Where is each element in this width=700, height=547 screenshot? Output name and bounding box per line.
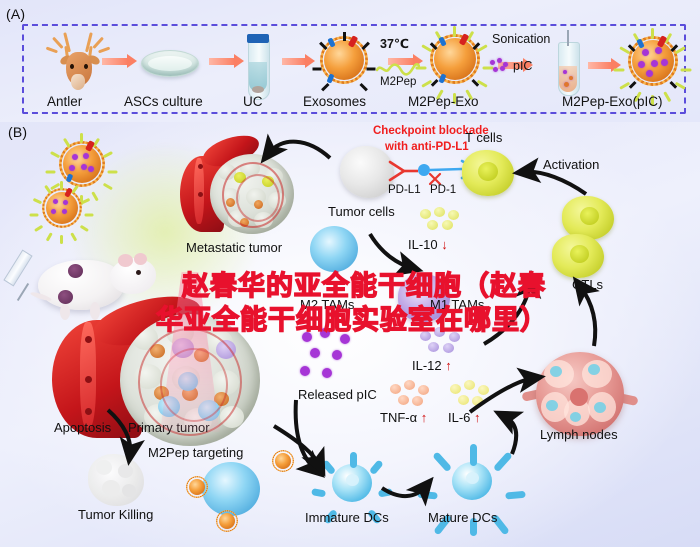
- mature-dc-icon: [436, 448, 508, 516]
- process-arrow-6: [588, 62, 612, 69]
- il-6-up-arrow: ↑: [474, 410, 481, 425]
- tnf-alpha-cytokine-dots: [390, 380, 434, 408]
- released-pic-label: Released pIC: [298, 387, 377, 402]
- process-arrow-2: [209, 58, 235, 65]
- exosome-icon: [316, 32, 372, 88]
- watermark-line-2: 华亚全能干细胞实验室在哪里）: [156, 298, 548, 337]
- pic-label: pIC: [513, 59, 532, 73]
- il-10-down-arrow: ↓: [441, 237, 448, 252]
- activation-label: Activation: [543, 157, 599, 172]
- temperature-label: 37℃: [380, 36, 409, 51]
- panel-a-step-label-m2pep-exo-pic: M2Pep-Exo(pIC): [562, 94, 663, 109]
- tumor-spot: [68, 264, 83, 278]
- tumor-cell-icon: [340, 146, 394, 198]
- ctls-label: CTLs: [572, 277, 603, 292]
- arrow-lymphnode-to-ctls: [580, 286, 595, 346]
- il-6-text: IL-6: [448, 410, 470, 425]
- panel-a-step-label-uc: UC: [243, 94, 263, 109]
- t-cell-icon: [462, 150, 514, 196]
- tnf-alpha-up-arrow: ↑: [421, 410, 428, 425]
- pd-l1-label: PD-L1: [388, 184, 421, 196]
- panel-a-step-label-asc: ASCs culture: [124, 94, 203, 109]
- injected-exosome-icon-2: [38, 184, 86, 232]
- t-cells-label: T cells: [465, 130, 502, 145]
- m2pep-exosome-pic-icon: [622, 30, 684, 92]
- panel-a-step-label-m2pep-exo: M2Pep-Exo: [408, 94, 479, 109]
- targeting-exosome-icon-3: [214, 508, 240, 534]
- il-10-text: IL-10: [408, 237, 438, 252]
- sonication-label: Sonication: [492, 32, 550, 46]
- metastatic-tumor-icon: [180, 142, 320, 247]
- centrifuge-tube-icon: [246, 32, 270, 94]
- pd-1-label: PD-1: [430, 184, 456, 196]
- il-6-label: IL-6 ↑: [448, 410, 481, 425]
- immature-dcs-label: Immature DCs: [305, 510, 389, 525]
- immature-dc-icon: [320, 452, 384, 514]
- arrow-pic-to-immaturedc: [296, 400, 316, 470]
- il-10-label: IL-10 ↓: [408, 237, 448, 252]
- apoptosis-label: Apoptosis: [54, 420, 111, 435]
- panel-a-step-label-exosomes: Exosomes: [303, 94, 366, 109]
- m2pep-label: M2Pep: [380, 76, 416, 88]
- petri-dish-icon: [141, 50, 199, 77]
- tnf-alpha-text: TNF-α: [380, 410, 417, 425]
- m2pep-exosome-icon: [424, 28, 486, 90]
- arrow-activation-to-tcells: [524, 172, 586, 194]
- metastatic-tumor-label: Metastatic tumor: [186, 240, 282, 255]
- targeting-exosome-icon-1: [270, 448, 296, 474]
- il-10-cytokine-dots: [418, 207, 466, 235]
- m2pep-targeting-label: M2Pep targeting: [148, 445, 243, 460]
- m2pep-squiggle-icon: [376, 62, 420, 76]
- pic-dot-cluster-icon: [490, 58, 510, 74]
- il-12-text: IL-12: [412, 358, 442, 373]
- tumor-cells-label: Tumor cells: [328, 204, 395, 219]
- il-6-cytokine-dots: [450, 380, 494, 408]
- lymph-nodes-label: Lymph nodes: [540, 427, 618, 442]
- tumor-killing-label: Tumor Killing: [78, 507, 153, 522]
- panel-a-tag: (A): [6, 6, 25, 22]
- panel-a: (A) Antler ASCs culture: [0, 0, 700, 122]
- targeting-exosome-icon-2: [184, 474, 210, 500]
- panel-a-step-label-antler: Antler: [47, 94, 82, 109]
- il-12-label: IL-12 ↑: [412, 358, 452, 373]
- tnf-alpha-label: TNF-α ↑: [380, 410, 427, 425]
- panel-b: Metastatic tumor Tumor cells Checkpoint …: [0, 122, 700, 547]
- sonicator-tube-icon: [556, 30, 580, 92]
- process-arrow-3: [282, 58, 306, 65]
- process-arrow-1: [102, 58, 128, 65]
- ctl-cell-icon-2: [552, 234, 604, 278]
- scientific-figure: (A) Antler ASCs culture: [0, 0, 700, 547]
- checkpoint-blockade-label-line2: with anti-PD-L1: [385, 141, 469, 153]
- apoptotic-cell-icon: [88, 454, 144, 506]
- arrow-il10-to-m2tam: [370, 234, 412, 268]
- il-12-up-arrow: ↑: [445, 358, 452, 373]
- mature-dcs-label: Mature DCs: [428, 510, 497, 525]
